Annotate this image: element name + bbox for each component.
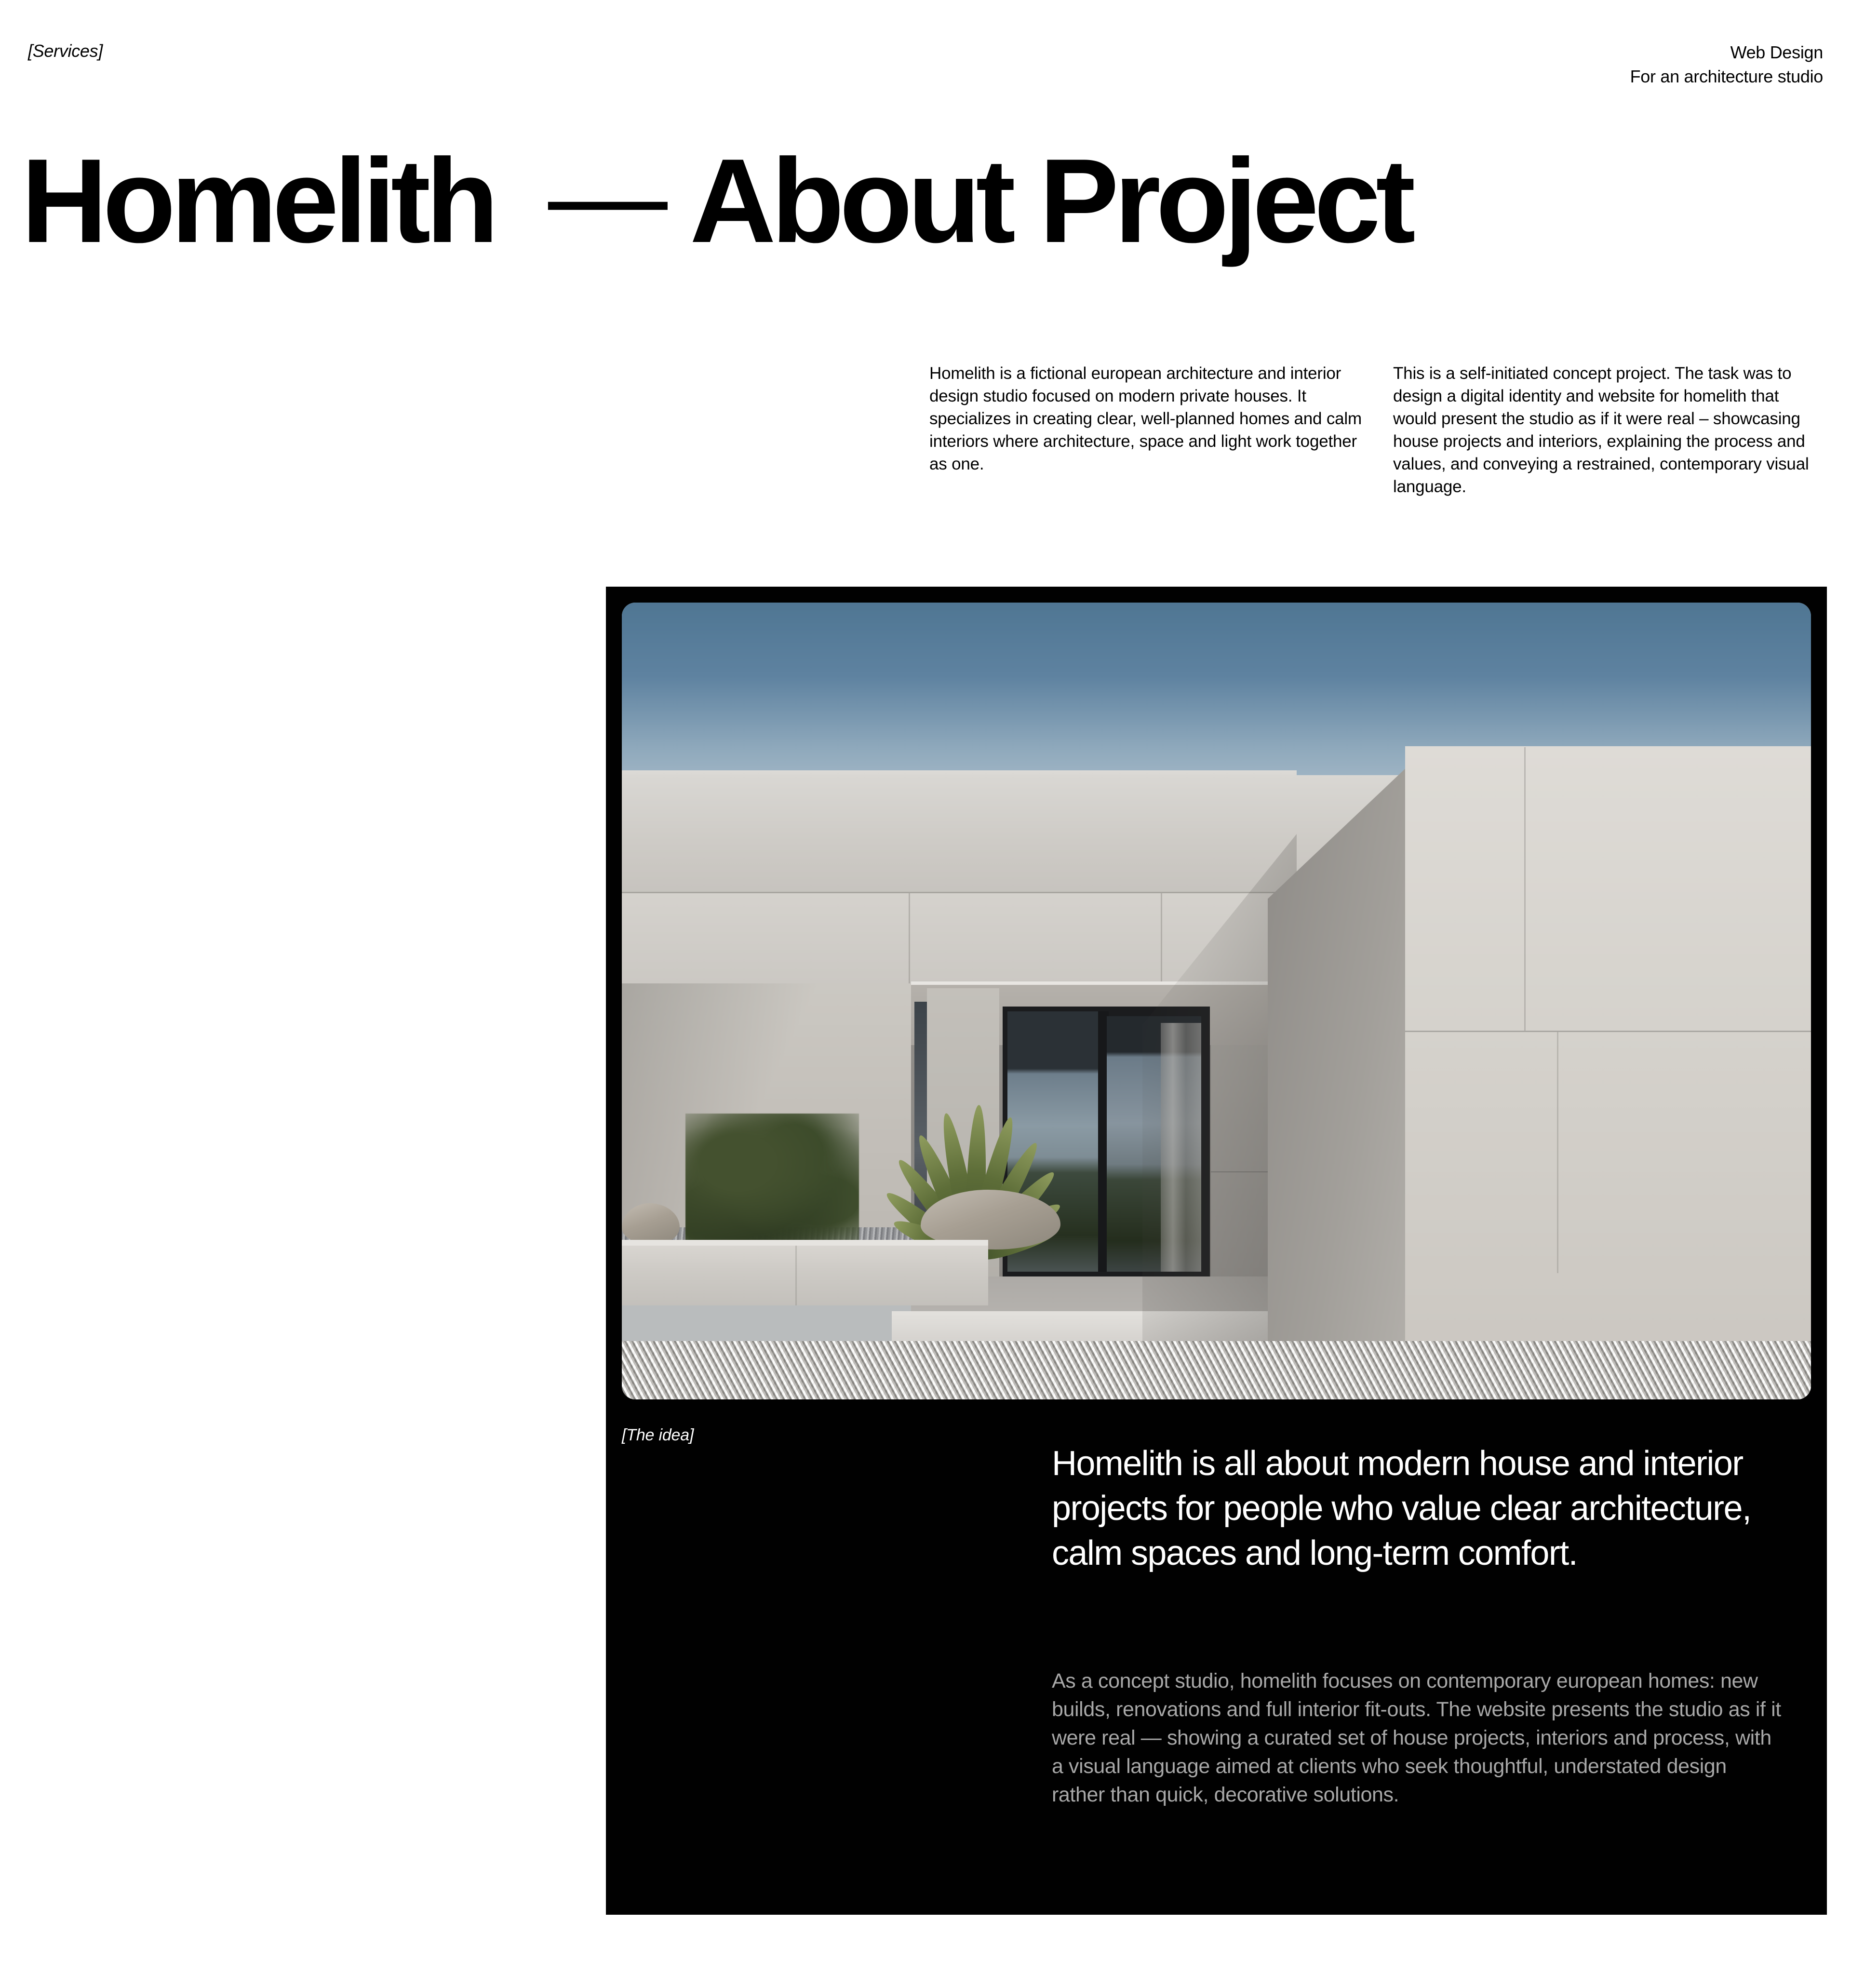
right-volume-seam-vertical-1 (1524, 747, 1526, 1031)
intro-paragraph-studio: Homelith is a fictional european archite… (929, 362, 1363, 498)
gravel-forecourt (622, 1341, 1811, 1399)
header-meta: Web Design For an architecture studio (1630, 40, 1823, 89)
planter-seam (795, 1246, 797, 1305)
project-subtitle: For an architecture studio (1630, 65, 1823, 89)
page-title-subject: About Project (690, 145, 1411, 256)
right-concrete-volume (1405, 746, 1811, 1368)
right-volume-seam-horizontal (1405, 1031, 1811, 1032)
em-dash-separator: — (548, 139, 664, 251)
panel-seam-vertical-2 (1161, 893, 1162, 984)
planter-ledge-top (622, 1240, 988, 1246)
idea-heading: Homelith is all about modern house and i… (1052, 1441, 1789, 1576)
project-category: Web Design (1630, 40, 1823, 65)
idea-label: [The idea] (622, 1424, 694, 1446)
right-volume-seam-vertical-2 (1557, 1032, 1558, 1273)
idea-body-paragraph: As a concept studio, homelith focuses on… (1052, 1667, 1784, 1809)
page-title-brand: Homelith (21, 145, 494, 256)
page-header: [Services] Web Design For an architectur… (0, 40, 1851, 103)
intro-paragraph-task: This is a self-initiated concept project… (1393, 362, 1827, 498)
house-facade-photo (622, 603, 1811, 1399)
section-label: [Services] (28, 40, 103, 62)
concrete-planter-ledge (622, 1244, 988, 1305)
intro-columns: Homelith is a fictional european archite… (929, 345, 1827, 515)
panel-seam-vertical-1 (909, 893, 910, 984)
page-title: Homelith — About Project (21, 145, 1829, 256)
